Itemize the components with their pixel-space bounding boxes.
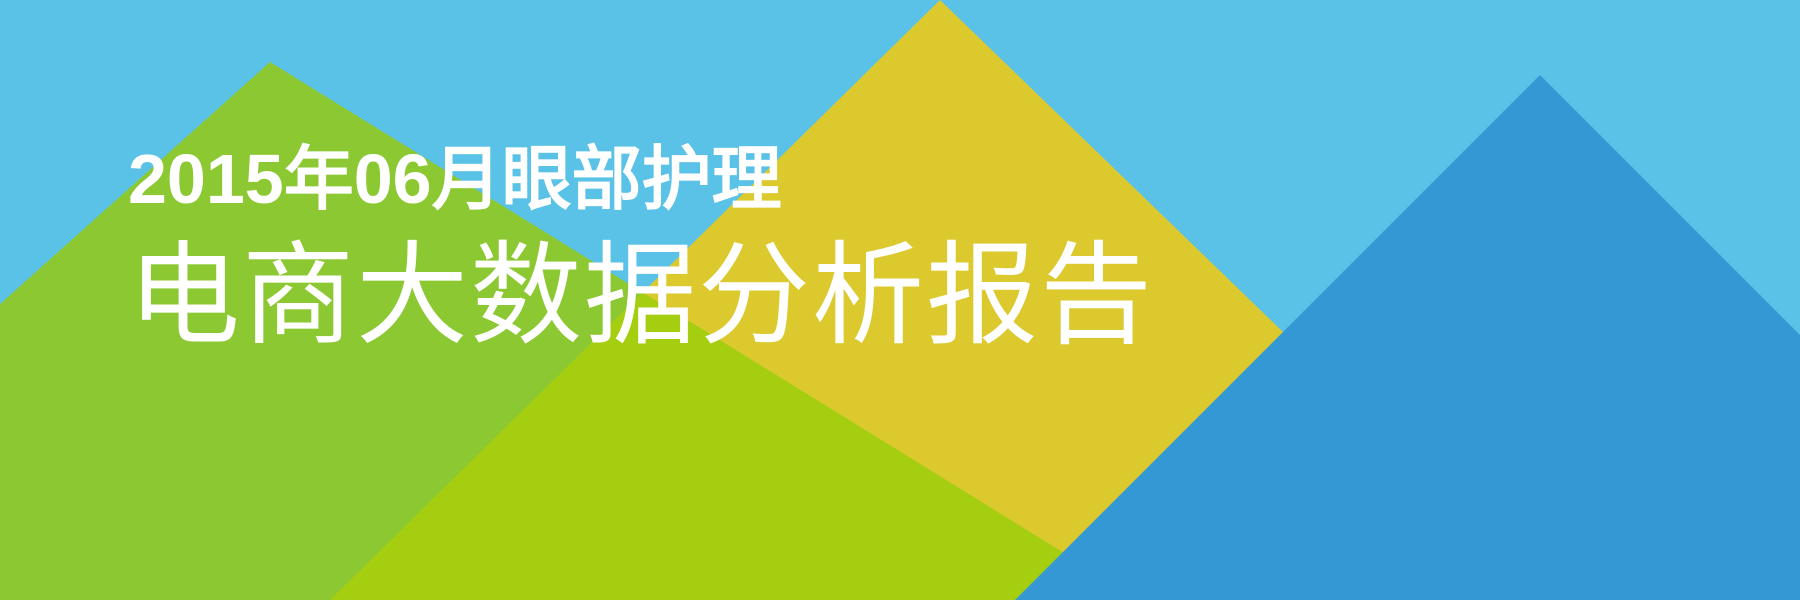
geometric-background (0, 0, 1800, 600)
report-cover-banner: 2015年06月眼部护理 电商大数据分析报告 (0, 0, 1800, 600)
